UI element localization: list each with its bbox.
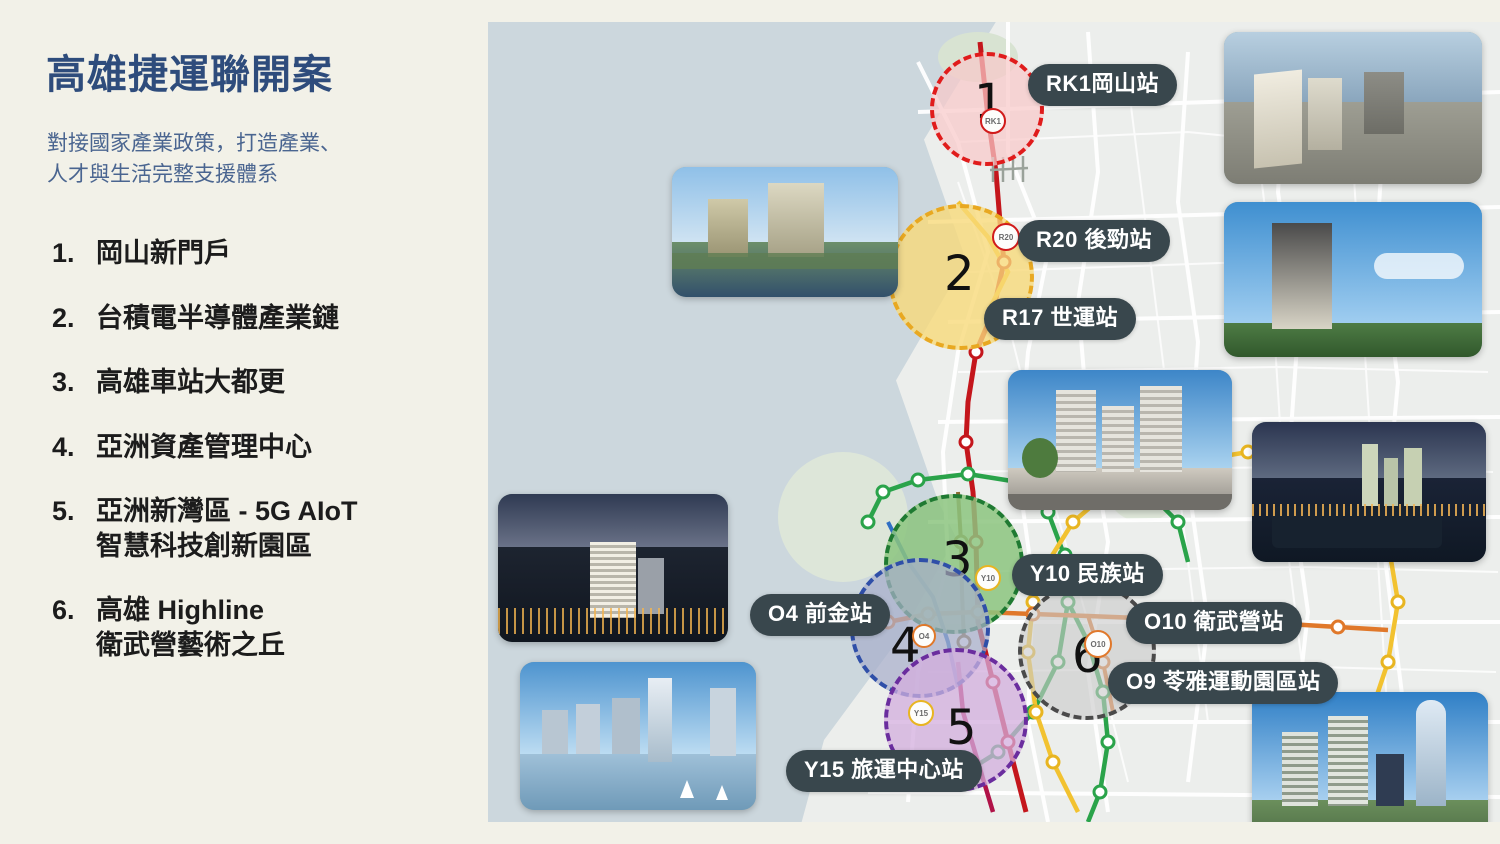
photo-sky xyxy=(498,494,728,547)
station-code-text: O4 xyxy=(919,632,930,641)
list-item-label: 亞洲新灣區 - 5G AIoT 智慧科技創新園區 xyxy=(96,494,358,563)
photo-building xyxy=(708,199,748,257)
station-code-text: R20 xyxy=(999,233,1014,242)
photo-tree xyxy=(1022,438,1058,478)
page-title: 高雄捷運聯開案 xyxy=(46,42,333,100)
photo-building xyxy=(768,183,824,257)
station-label-o4[interactable]: O4 前金站 xyxy=(750,594,890,636)
subtitle-line-2: 人才與生活完整支援體系 xyxy=(47,159,467,190)
list-item: 1. 岡山新門戶 xyxy=(52,236,482,271)
photo-building xyxy=(1308,78,1342,150)
station-code-y10: Y10 xyxy=(975,565,1001,591)
photo-road xyxy=(1008,494,1232,510)
photo-tower-main xyxy=(648,678,672,762)
station-label-r17[interactable]: R17 世運站 xyxy=(984,298,1136,340)
photo-citylights xyxy=(1252,504,1486,516)
photo-building xyxy=(638,558,664,614)
photo-tree-row xyxy=(672,253,898,269)
list-item-label: 高雄 Highline 衛武營藝術之丘 xyxy=(96,593,285,662)
page-subtitle: 對接國家產業政策，打造產業、 人才與生活完整支援體系 xyxy=(47,128,467,190)
photo-rk1-aerial[interactable] xyxy=(1224,32,1482,184)
photo-sailboat xyxy=(716,785,728,800)
station-code-r20: R20 xyxy=(992,223,1020,251)
photo-lake-night[interactable] xyxy=(1252,422,1486,562)
slide-root: 高雄捷運聯開案 對接國家產業政策，打造產業、 人才與生活完整支援體系 1. 岡山… xyxy=(0,0,1500,844)
left-content-panel: 高雄捷運聯開案 對接國家產業政策，打造產業、 人才與生活完整支援體系 1. 岡山… xyxy=(0,0,488,844)
list-item-line-2: 智慧科技創新園區 xyxy=(96,529,358,564)
subtitle-line-1: 對接國家產業政策，打造產業、 xyxy=(47,128,467,159)
photo-building xyxy=(1272,223,1332,329)
station-label-o10[interactable]: O10 衛武營站 xyxy=(1126,602,1302,644)
photo-city-night[interactable] xyxy=(498,494,728,642)
photo-r20-tower[interactable] xyxy=(1224,202,1482,357)
list-item-line-1: 亞洲新灣區 - 5G AIoT xyxy=(96,496,358,526)
photo-building xyxy=(1282,732,1318,806)
zone-number: 5 xyxy=(946,700,977,756)
list-item-line-1: 高雄 Highline xyxy=(96,595,264,625)
photo-citylights xyxy=(498,608,728,634)
list-item: 2. 台積電半導體產業鏈 xyxy=(52,301,482,336)
zone-number: 2 xyxy=(944,246,975,302)
station-code-y15: Y15 xyxy=(908,700,934,726)
photo-building xyxy=(1384,458,1398,506)
photo-building xyxy=(590,542,636,618)
list-item-line-1: 亞洲資產管理中心 xyxy=(96,432,312,462)
photo-building xyxy=(1328,716,1368,806)
photo-building xyxy=(710,688,736,756)
list-item: 5. 亞洲新灣區 - 5G AIoT 智慧科技創新園區 xyxy=(52,494,482,563)
station-code-text: RK1 xyxy=(985,117,1001,126)
station-code-text: Y10 xyxy=(981,574,995,583)
photo-station-plaza[interactable] xyxy=(1008,370,1232,510)
list-item-label: 亞洲資產管理中心 xyxy=(96,430,312,465)
photo-harbor-skyline[interactable] xyxy=(520,662,756,810)
list-item-number: 3. xyxy=(52,365,96,400)
list-item-number: 5. xyxy=(52,494,96,529)
photo-building xyxy=(1364,72,1404,134)
station-code-rk1: RK1 xyxy=(980,108,1006,134)
list-item-number: 6. xyxy=(52,593,96,628)
photo-building xyxy=(1254,69,1302,168)
photo-sailboat xyxy=(680,780,694,798)
list-item: 4. 亞洲資產管理中心 xyxy=(52,430,482,465)
photo-modern-towers[interactable] xyxy=(1252,692,1488,822)
photo-tower-curved xyxy=(1416,700,1446,806)
photo-building xyxy=(1140,386,1182,472)
photo-building xyxy=(1376,754,1404,806)
photo-ground xyxy=(1224,323,1482,357)
station-label-y15[interactable]: Y15 旅運中心站 xyxy=(786,750,982,792)
station-code-o10: O10 xyxy=(1084,630,1112,658)
project-list: 1. 岡山新門戶 2. 台積電半導體產業鏈 3. 高雄車站大都更 4. xyxy=(52,236,482,692)
list-item-line-1: 岡山新門戶 xyxy=(96,238,231,268)
map-panel[interactable]: 1 RK1 2 R20 3 Y10 4 O4 5 Y15 xyxy=(488,22,1500,822)
photo-building xyxy=(1362,444,1378,506)
list-item-label: 岡山新門戶 xyxy=(96,236,231,271)
list-item: 6. 高雄 Highline 衛武營藝術之丘 xyxy=(52,593,482,662)
photo-building xyxy=(576,704,600,754)
list-item-line-1: 台積電半導體產業鏈 xyxy=(96,303,339,333)
list-item-number: 1. xyxy=(52,236,96,271)
station-code-o4: O4 xyxy=(912,624,936,648)
photo-building xyxy=(542,710,568,754)
list-item-number: 4. xyxy=(52,430,96,465)
photo-building xyxy=(1056,390,1096,472)
station-label-r20[interactable]: R20 後勁站 xyxy=(1018,220,1170,262)
list-item-line-2: 衛武營藝術之丘 xyxy=(96,628,285,663)
list-item-label: 高雄車站大都更 xyxy=(96,365,285,400)
station-code-text: O10 xyxy=(1090,640,1105,649)
photo-building xyxy=(1404,448,1422,506)
list-item: 3. 高雄車站大都更 xyxy=(52,365,482,400)
station-label-rk1[interactable]: RK1岡山站 xyxy=(1028,64,1177,106)
photo-cloud xyxy=(1374,253,1464,279)
station-code-text: Y15 xyxy=(914,709,928,718)
photo-r17-towers[interactable] xyxy=(672,167,898,297)
list-item-line-1: 高雄車站大都更 xyxy=(96,367,285,397)
station-label-y10[interactable]: Y10 民族站 xyxy=(1012,554,1163,596)
photo-ground xyxy=(520,754,756,810)
photo-building xyxy=(612,698,640,754)
list-item-label: 台積電半導體產業鏈 xyxy=(96,301,339,336)
station-label-o9[interactable]: O9 苓雅運動園區站 xyxy=(1108,662,1338,704)
list-item-number: 2. xyxy=(52,301,96,336)
photo-building xyxy=(1102,406,1134,472)
